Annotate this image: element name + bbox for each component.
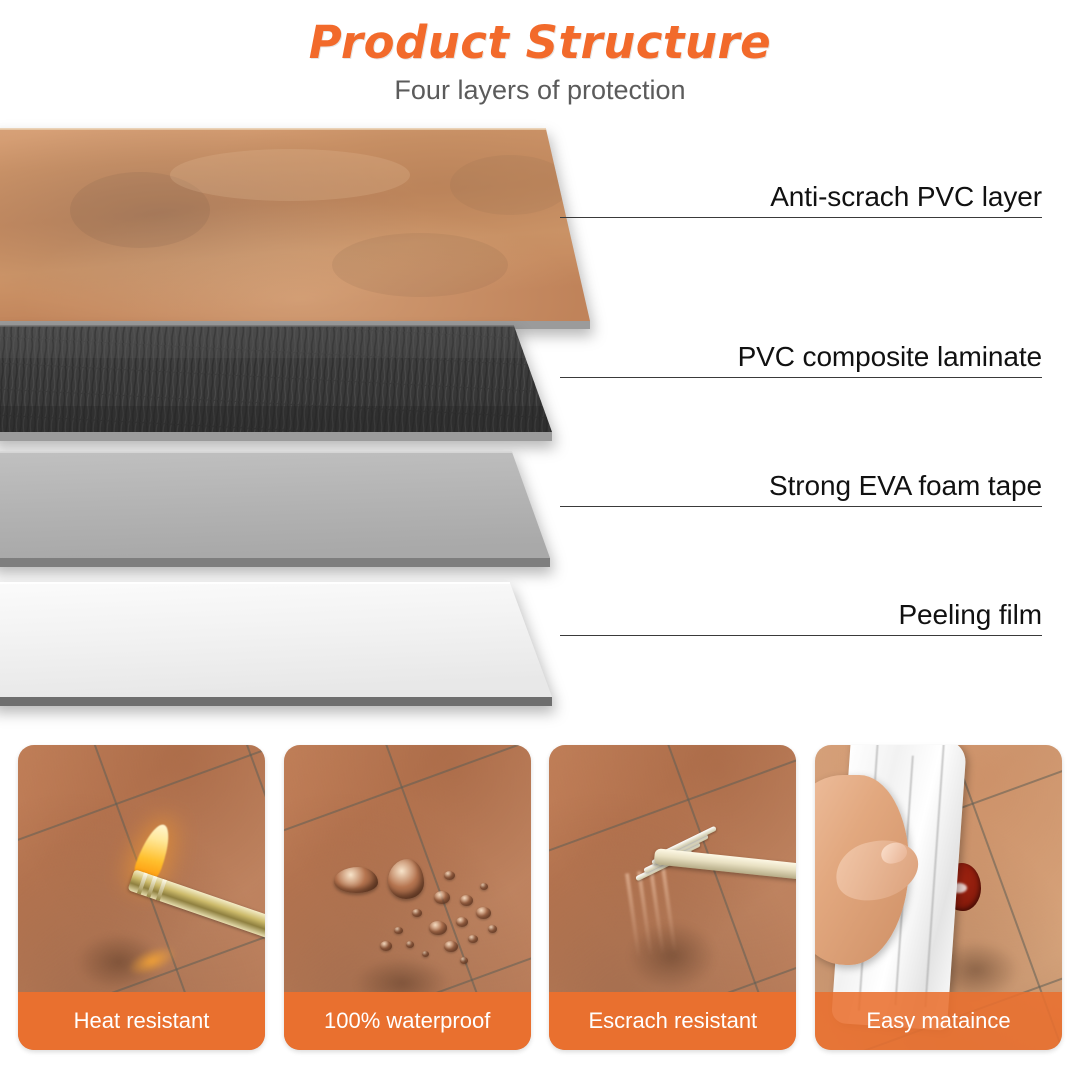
feature-caption-bar: Heat resistant [18, 992, 265, 1050]
layer-slab-eva-foam-tape [0, 440, 610, 585]
feature-caption-bar: Escrach resistant [549, 992, 796, 1050]
layer-diagram: Anti-scrach PVC layer PVC composite lami… [0, 115, 1080, 730]
callout-anti-scratch-pvc: Anti-scrach PVC layer [560, 217, 1042, 219]
callout-rule [560, 506, 1042, 507]
feature-caption: Easy mataince [866, 1008, 1010, 1034]
page-title: Product Structure [0, 0, 1080, 69]
page-header: Product Structure Four layers of protect… [0, 0, 1080, 115]
water-drop-icon [334, 867, 378, 893]
feature-caption: 100% waterproof [324, 1008, 490, 1034]
callout-peeling-film: Peeling film [560, 635, 1042, 637]
callout-label: Peeling film [898, 599, 1042, 631]
callout-label: PVC composite laminate [738, 341, 1042, 373]
feature-card-scratch-resistant[interactable]: Escrach resistant [549, 745, 796, 1050]
layer-slab-pvc-composite-laminate [0, 310, 610, 455]
callout-label: Strong EVA foam tape [769, 470, 1042, 502]
feature-card-waterproof[interactable]: 100% waterproof [284, 745, 531, 1050]
slab-shape-3 [0, 440, 610, 585]
layer-slab-peeling-film [0, 567, 610, 727]
slab-shape-1 [0, 115, 610, 340]
feature-card-heat-resistant[interactable]: Heat resistant [18, 745, 265, 1050]
page-subtitle: Four layers of protection [0, 69, 1080, 106]
layer-slab-anti-scratch-pvc [0, 115, 610, 340]
feature-caption-bar: Easy mataince [815, 992, 1062, 1050]
callout-eva-foam-tape: Strong EVA foam tape [560, 506, 1042, 508]
feature-card-easy-maintenance[interactable]: Easy mataince [815, 745, 1062, 1050]
callout-rule [560, 377, 1042, 378]
feature-card-row: Heat resistant [0, 745, 1080, 1065]
slab-shape-4 [0, 567, 610, 727]
callout-label: Anti-scrach PVC layer [770, 181, 1042, 213]
feature-caption-bar: 100% waterproof [284, 992, 531, 1050]
feature-caption: Escrach resistant [588, 1008, 757, 1034]
water-drop-icon [388, 859, 424, 899]
feature-caption: Heat resistant [74, 1008, 210, 1034]
callout-pvc-composite-laminate: PVC composite laminate [560, 377, 1042, 379]
callout-rule [560, 635, 1042, 636]
callout-rule [560, 217, 1042, 218]
slab-shape-2 [0, 310, 610, 455]
